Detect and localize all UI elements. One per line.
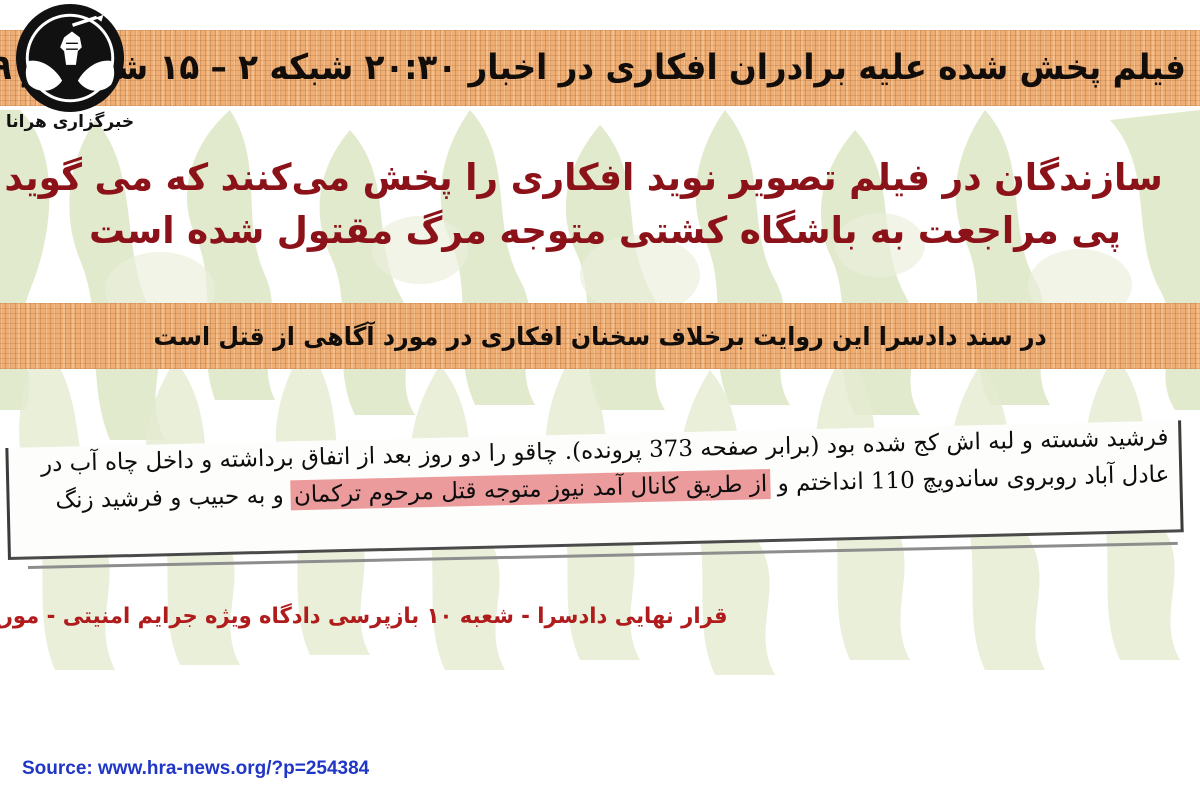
poster-canvas: فیلم پخش شده علیه برادران افکاری در اخبا… — [0, 0, 1200, 800]
main-headline: سازندگان در فیلم تصویر نوید افکاری را پخ… — [30, 152, 1180, 257]
headline-line-1: سازندگان در فیلم تصویر نوید افکاری را پخ… — [47, 152, 1163, 205]
hrana-circular-emblem-icon: HUMAN RIGHTS ACTIVISTS IN IRAN — [11, 2, 129, 114]
source-link[interactable]: Source: www.hra-news.org/?p=254384 — [22, 758, 369, 780]
document-scan: فرشید شسته و لبه اش کج شده بود (برابر صف… — [5, 420, 1183, 560]
svg-text:HUMAN RIGHTS ACTIVISTS IN IRAN: HUMAN RIGHTS ACTIVISTS IN IRAN — [11, 2, 15, 4]
document-text: و به حبیب و فرشید زنگ — [55, 482, 291, 514]
document-excerpt: فرشید شسته و لبه اش کج شده بود (برابر صف… — [8, 448, 1192, 590]
headline-line-2: پی مراجعت به باشگاه کشتی متوجه مرگ مقتول… — [47, 205, 1163, 258]
document-caption: قرار نهایی دادسرا - شعبه ۱۰ بازپرسی دادگ… — [0, 604, 728, 629]
subheading-banner: در سند دادسرا این روایت برخلاف سخنان افک… — [0, 303, 1200, 369]
header-banner: فیلم پخش شده علیه برادران افکاری در اخبا… — [0, 30, 1200, 106]
hrana-logo-caption: خبرگزاری هرانا — [4, 112, 136, 132]
header-banner-text: فیلم پخش شده علیه برادران افکاری در اخبا… — [83, 51, 1186, 86]
highlighted-text: از طریق کانال آمد نیوز متوجه قتل مرحوم ت… — [291, 469, 771, 510]
hrana-logo: HUMAN RIGHTS ACTIVISTS IN IRAN خبرگزاری … — [4, 2, 136, 138]
document-text: عادل آباد روبروی ساندویچ 110 انداختم و — [770, 462, 1170, 497]
subheading-banner-text: در سند دادسرا این روایت برخلاف سخنان افک… — [153, 324, 1046, 349]
